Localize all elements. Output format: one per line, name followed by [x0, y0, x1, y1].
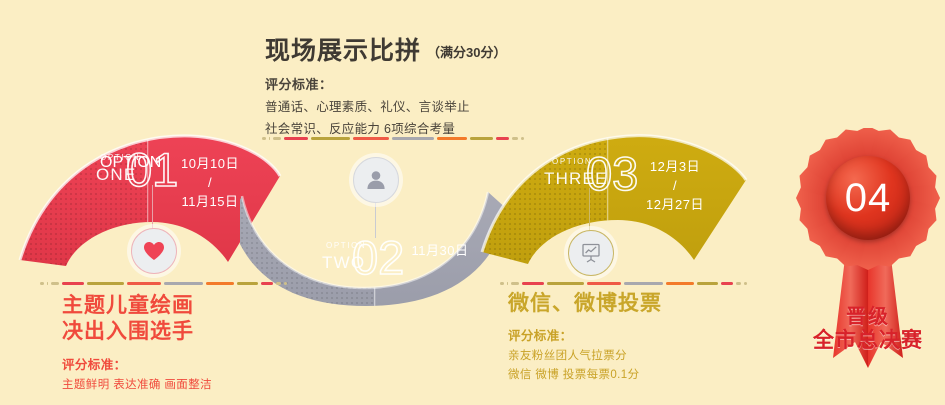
step-2-node	[353, 157, 399, 203]
divider-right	[500, 281, 750, 285]
right-headline-line-1: 微信、微博投票	[508, 290, 662, 316]
title-row: 现场展示比拼 （满分30分）	[265, 38, 565, 63]
left-headline-line-1: 主题儿童绘画	[62, 292, 212, 318]
title-score-note: （满分30分）	[427, 42, 506, 63]
right-criteria-line-1: 亲友粉丝团人气拉票分	[508, 347, 662, 363]
title-criteria-label: 评分标准：	[265, 74, 565, 93]
infographic-canvas: 现场展示比拼 （满分30分） 评分标准： 普通话、心理素质、礼仪、言谈举止 社会…	[0, 0, 945, 405]
title-criteria-line-1: 普通话、心理素质、礼仪、言谈举止	[265, 96, 565, 115]
step-3-node	[568, 230, 614, 276]
right-criteria-label: 评分标准：	[508, 325, 662, 344]
title-block: 现场展示比拼 （满分30分） 评分标准： 普通话、心理素质、礼仪、言谈举止 社会…	[265, 38, 565, 137]
divider-left	[40, 281, 290, 285]
rosette-number: 04	[845, 178, 892, 218]
presentation-chart-icon	[579, 241, 603, 265]
right-text-block: 微信、微博投票 评分标准： 亲友粉丝团人气拉票分 微信 微博 投票每票0.1分	[508, 290, 662, 382]
step-1-node	[131, 228, 177, 274]
step-1-stem	[152, 185, 153, 230]
step-3-stem	[589, 188, 590, 232]
rosette-medallion: 04	[826, 156, 910, 240]
person-icon	[365, 169, 387, 191]
page-title: 现场展示比拼	[265, 38, 421, 63]
left-criteria-label: 评分标准：	[62, 354, 212, 373]
right-criteria-line-2: 微信 微博 投票每票0.1分	[508, 366, 662, 382]
step-2-stem	[375, 198, 376, 238]
award-rosette: 04 晋级 全市总决赛	[793, 128, 943, 378]
heart-icon	[143, 241, 165, 261]
left-text-block: 主题儿童绘画 决出入围选手 评分标准： 主题鲜明 表达准确 画面整洁	[62, 292, 212, 392]
rosette-label-line-2: 全市总决赛	[793, 324, 943, 354]
left-criteria-line-1: 主题鲜明 表达准确 画面整洁	[62, 376, 212, 392]
left-headline-line-2: 决出入围选手	[62, 318, 212, 344]
